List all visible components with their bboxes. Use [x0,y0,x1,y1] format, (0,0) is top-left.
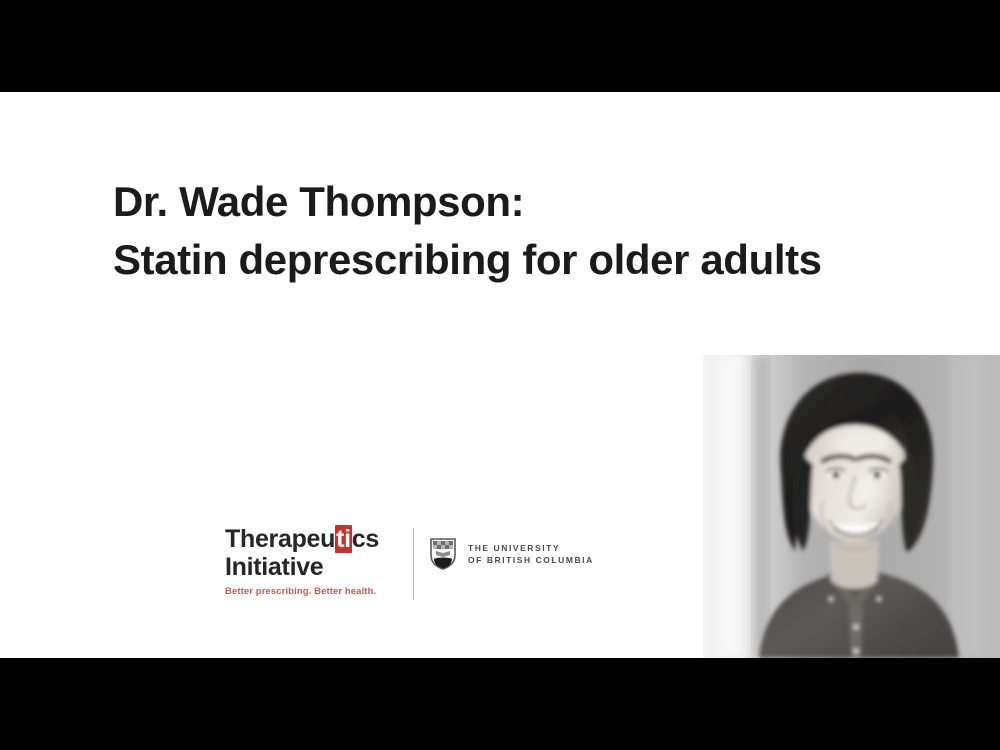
video-player-frame: Dr. Wade Thompson: Statin deprescribing … [0,0,1000,750]
logo-lockup-row: Therapeutics Initiative Better prescribi… [225,524,594,604]
ti-word-before: Therapeu [225,525,335,553]
ubc-logo[interactable]: THE UNIVERSITY OF BRITISH COLUMBIA [430,538,594,570]
letterbox-bar-bottom [0,658,1000,750]
speaker-portrait-photo [703,355,1000,658]
ti-wordmark-line-2: Initiative [225,553,400,581]
presentation-slide: Dr. Wade Thompson: Statin deprescribing … [0,92,1000,658]
ti-highlight-box: ti [335,525,352,553]
logo-divider [413,528,414,600]
ti-word-after: cs [352,525,379,553]
slide-title: Dr. Wade Thompson: Statin deprescribing … [113,173,983,289]
ti-tagline: Better prescribing. Better health. [225,586,400,597]
letterbox-bar-top [0,0,1000,92]
therapeutics-initiative-logo[interactable]: Therapeutics Initiative Better prescribi… [225,524,400,597]
ubc-shield-crest-icon [430,538,456,570]
ubc-line-2: OF BRITISH COLUMBIA [468,554,594,566]
ti-wordmark-line-1: Therapeutics [225,525,400,553]
ubc-line-1: THE UNIVERSITY [468,542,594,554]
ubc-wordmark: THE UNIVERSITY OF BRITISH COLUMBIA [468,542,594,566]
portrait-image [703,355,1000,658]
